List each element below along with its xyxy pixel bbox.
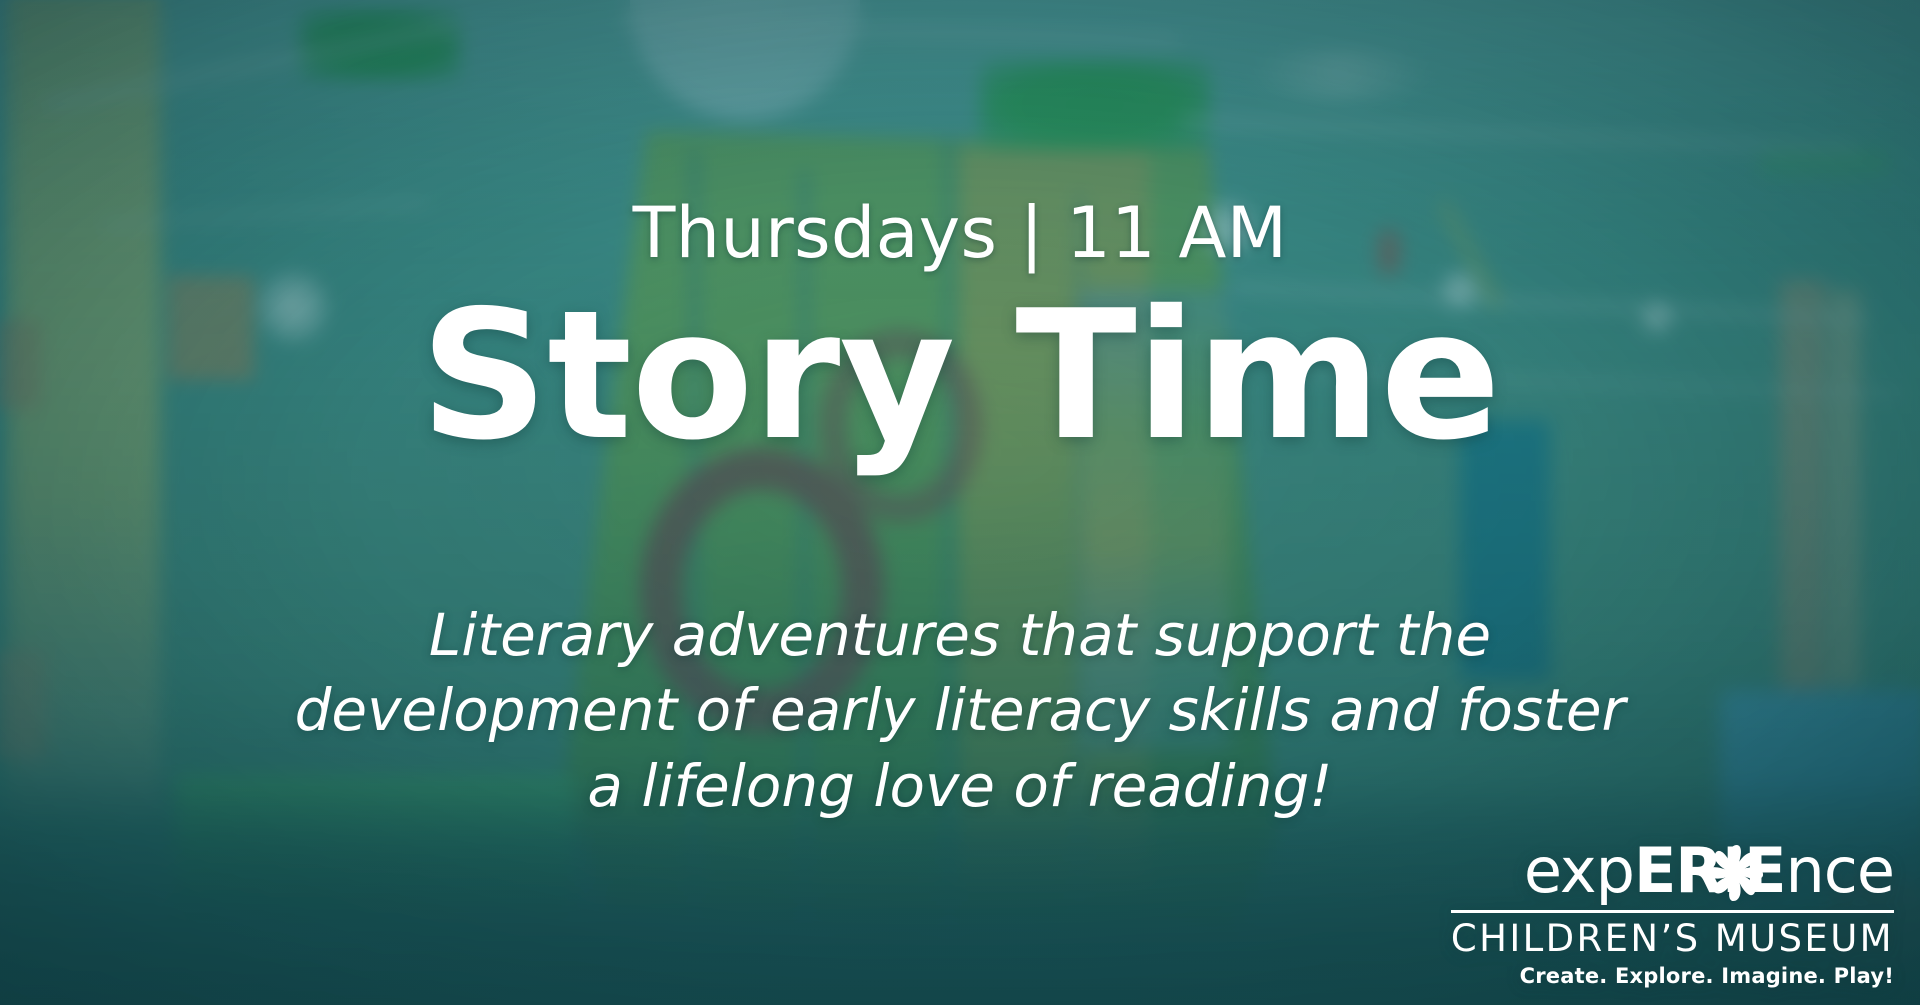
logo-wordmark-row: expERIEnce (1514, 846, 1894, 906)
logo-word-part3: nce (1785, 834, 1894, 907)
subtitle-line: Literary adventures that support the (295, 598, 1626, 673)
logo-organization-name: CHILDREN’S MUSEUM (1451, 920, 1894, 957)
poster-subtitle: Literary adventures that support the dev… (295, 598, 1626, 824)
subtitle-line: a lifelong love of reading! (295, 749, 1626, 824)
story-time-poster: Thursdays | 11 AM Story Time Literary ad… (0, 0, 1920, 1005)
schedule-eyebrow: Thursdays | 11 AM (633, 198, 1288, 268)
logo-wordmark: expERIEnce (1524, 840, 1894, 906)
page-title: Story Time (420, 290, 1500, 463)
logo-divider (1451, 910, 1894, 913)
museum-logo: expERIEnce CHILDREN’S MUSEUM Create. Exp… (1451, 846, 1894, 987)
logo-word-part1: exp (1524, 834, 1634, 907)
logo-word-part2: ERIE (1634, 834, 1786, 907)
subtitle-line: development of early literacy skills and… (295, 673, 1626, 748)
logo-tagline: Create. Explore. Imagine. Play! (1520, 966, 1894, 987)
